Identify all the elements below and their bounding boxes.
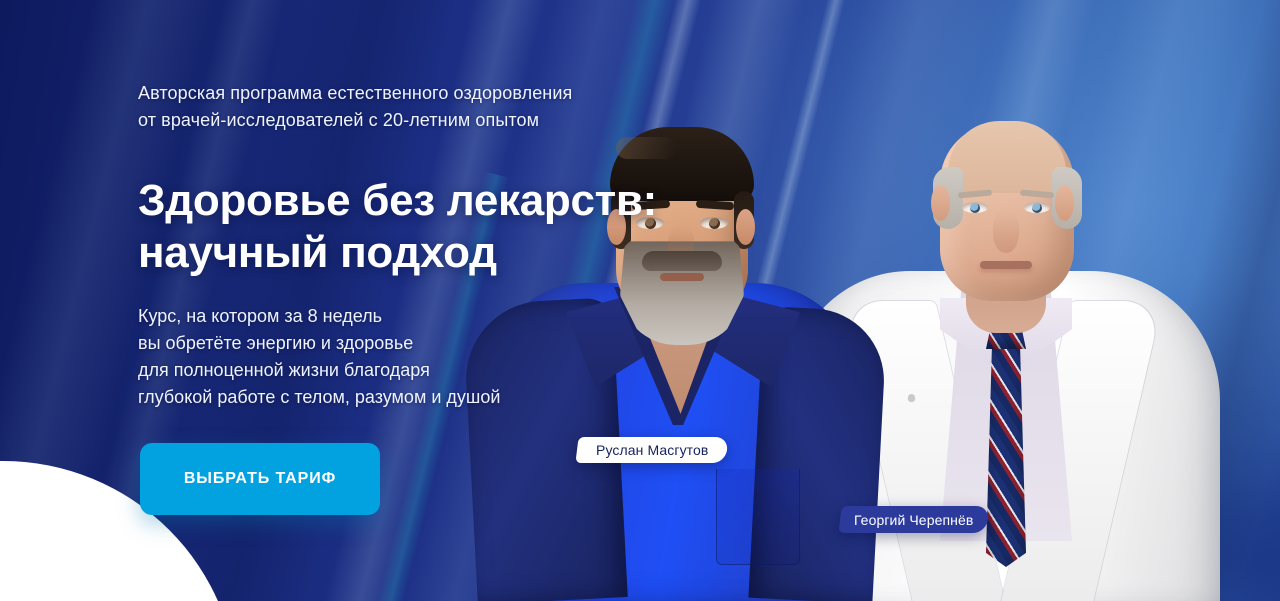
choose-plan-button[interactable]: ВЫБРАТЬ ТАРИФ [140,443,380,515]
mouth [980,261,1032,269]
hero-eyebrow: Авторская программа естественного оздоро… [138,80,678,134]
hero-subcopy-line-1: Курс, на котором за 8 недель [138,303,608,330]
hero-subcopy-line-3: для полноценной жизни благодаря [138,357,608,384]
name-badge-ruslan-masgutov: Руслан Масгутов [575,437,728,463]
eye-right [700,217,728,229]
ear-right [1055,185,1074,221]
eye-left [962,202,988,213]
coat-button [908,394,915,401]
ear-left [931,185,950,221]
hero-banner: Руслан Масгутов Георгий Черепнёв Авторск… [0,0,1280,601]
eye-right [1024,202,1050,213]
hero-headline: Здоровье без лекарств: научный подход [138,175,678,279]
name-badge-georgiy-cherepnev: Георгий Черепнёв [838,506,989,533]
name-badge-label: Руслан Масгутов [596,442,708,458]
hero-subcopy-line-2: вы обретёте энергию и здоровье [138,330,608,357]
name-badge-label: Георгий Черепнёв [854,512,973,528]
bald-scalp [948,121,1066,193]
hero-subcopy: Курс, на котором за 8 недель вы обретёте… [138,303,608,411]
nose [993,211,1019,253]
scrubs-chest-pocket [716,469,800,565]
ear-right [736,209,755,245]
hero-eyebrow-line-1: Авторская программа естественного оздоро… [138,80,678,107]
hero-headline-line-1: Здоровье без лекарств: [138,176,657,225]
striped-tie [986,331,1026,567]
hero-headline-line-2: научный подход [138,228,497,277]
hero-copy-block: Авторская программа естественного оздоро… [138,0,698,601]
hero-subcopy-line-4: глубокой работе с телом, разумом и душой [138,384,608,411]
hero-eyebrow-line-2: от врачей-исследователей с 20-летним опы… [138,107,678,134]
